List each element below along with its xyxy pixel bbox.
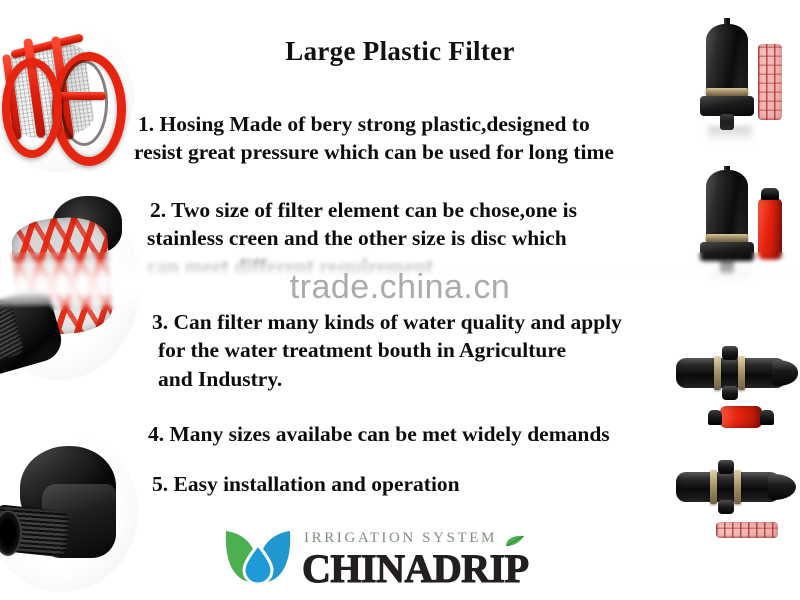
tee-top: [722, 346, 738, 360]
clamp-left: [710, 470, 717, 504]
feature-item-1: 1. Hosing Made of bery strong plastic,de…: [138, 110, 614, 167]
inline-filter-tube: [676, 358, 786, 388]
mesh-screen-cartridge: [716, 522, 778, 538]
brand-logo: IRRIGATION SYSTEM CHINADRIP: [222, 527, 552, 589]
feature-4-line-1: 4. Many sizes availabe can be met widely…: [148, 420, 610, 448]
cage-crossbar: [56, 92, 106, 100]
photo-black-elbow-fitting: [0, 432, 138, 592]
photo-black-body-with-red-screen: [0, 190, 140, 380]
clamp-right: [734, 470, 741, 504]
feature-item-5: 5. Easy installation and operation: [152, 470, 460, 498]
photo-inline-filter-red-cartridge: [676, 344, 800, 440]
cage-ring-inner: [60, 60, 108, 146]
red-disc-cartridge: [720, 406, 762, 428]
tee-bottom: [722, 386, 738, 400]
feature-2-line-3: can meet different requirement: [147, 253, 577, 281]
clamp-right: [738, 356, 745, 390]
logo-leaf-accent-icon: [505, 535, 525, 554]
tee-top: [718, 460, 734, 474]
filter-housing-dome: [706, 170, 748, 244]
cartridge-cap-right: [760, 410, 774, 425]
feature-1-line-2: resist great pressure which can be used …: [134, 138, 614, 166]
feature-3-line-3: and Industry.: [158, 365, 622, 393]
cartridge-cap: [761, 188, 779, 200]
feature-item-3: 3. Can filter many kinds of water qualit…: [152, 308, 622, 393]
red-disc-cartridge: [758, 198, 782, 260]
mesh-screen-cartridge: [758, 44, 782, 120]
housing-base: [700, 242, 754, 262]
inline-filter-tube: [676, 472, 780, 502]
drop-shadow: [708, 126, 752, 142]
housing-base: [700, 96, 754, 116]
clamp-left: [714, 356, 721, 390]
tee-bottom: [718, 500, 734, 514]
photo-vertical-screen-filter: [700, 18, 796, 136]
feature-3-line-2: for the water treatment bouth in Agricul…: [158, 336, 622, 364]
housing-collar: [706, 88, 748, 96]
chinadrip-logo-mark: [222, 529, 294, 585]
red-screen-filter-graphic: [6, 36, 110, 158]
feature-3-line-1: 3. Can filter many kinds of water qualit…: [152, 308, 622, 336]
logo-brand-name: CHINADRIP: [302, 545, 529, 592]
feature-item-2: 2. Two size of filter element can be cho…: [150, 196, 577, 281]
feature-2-line-1: 2. Two size of filter element can be cho…: [150, 196, 577, 224]
feature-2-line-2: stainless creen and the other size is di…: [147, 224, 577, 252]
cage-ring-back: [2, 58, 62, 158]
cartridge-cap-left: [708, 410, 722, 425]
feature-item-4: 4. Many sizes availabe can be met widely…: [148, 420, 610, 448]
product-feature-banner: Large Plastic Filter: [0, 0, 800, 600]
photo-inline-filter-mesh-cartridge: [676, 456, 800, 556]
filter-housing-dome: [706, 24, 748, 98]
leaf-drop-icon: [222, 529, 294, 585]
feature-1-line-1: 1. Hosing Made of bery strong plastic,de…: [138, 110, 614, 138]
drop-shadow: [708, 272, 752, 290]
inline-filter-nose: [772, 360, 798, 386]
photo-vertical-disc-filter: [700, 166, 796, 290]
housing-collar: [706, 234, 748, 242]
inline-filter-nose: [768, 474, 796, 500]
feature-5-line-1: 5. Easy installation and operation: [152, 470, 460, 498]
